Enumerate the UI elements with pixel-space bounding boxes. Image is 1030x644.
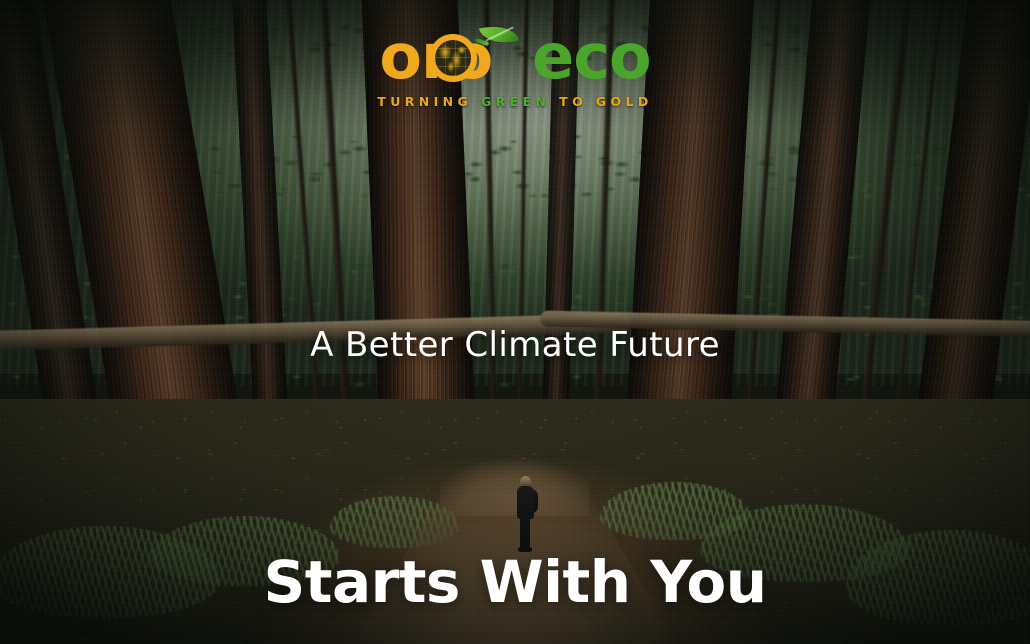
hero-banner: oro eco TURNING GREEN TO GOLD A Better C… xyxy=(0,0,1030,644)
hero-headline-secondary: Starts With You xyxy=(0,548,1030,616)
logo-wordmark[interactable]: oro eco xyxy=(379,26,650,88)
leaf-icon xyxy=(475,20,519,48)
tagline-segment-turning: TURNING xyxy=(377,94,472,109)
logo-text-eco: eco xyxy=(532,26,650,88)
globe-icon xyxy=(429,34,477,82)
logo-tagline: TURNING GREEN TO GOLD xyxy=(377,94,652,109)
tagline-segment-green: GREEN xyxy=(481,94,550,109)
brand-logo[interactable]: oro eco TURNING GREEN TO GOLD xyxy=(0,26,1030,109)
hiker-legs xyxy=(520,517,530,548)
hiker-figure xyxy=(513,476,539,554)
hero-headline-primary: A Better Climate Future xyxy=(0,325,1030,365)
tagline-segment-to-gold: TO GOLD xyxy=(559,94,653,109)
hiker-torso xyxy=(517,486,534,519)
